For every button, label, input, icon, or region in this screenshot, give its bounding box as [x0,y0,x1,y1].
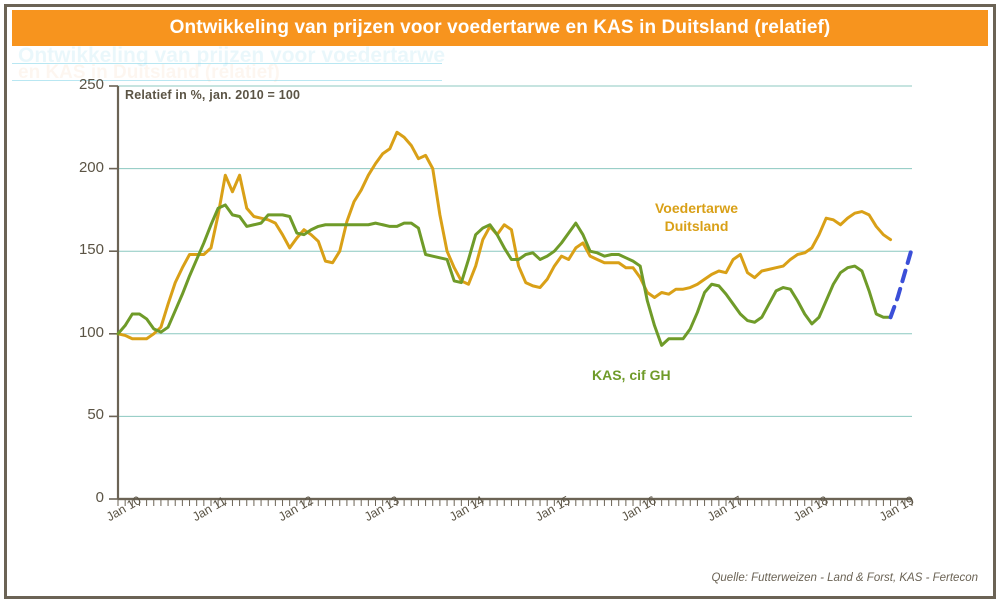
y-tick-label: 100 [58,324,104,341]
y-tick-label: 200 [58,159,104,176]
series-label-kas: KAS, cif GH [592,366,671,384]
series-line [118,132,891,339]
y-tick-label: 150 [58,241,104,258]
y-tick-label: 50 [58,406,104,423]
series-label-voedertarwe: Voedertarwe Duitsland [655,199,738,235]
source-attribution: Quelle: Futterweizen - Land & Forst, KAS… [711,572,978,584]
chart-figure: Ontwikkeling van prijzen voor voedertarw… [0,0,1000,603]
series-line [891,248,912,317]
series-paths [118,132,912,345]
plot-area [0,0,1000,603]
series-label-voedertarwe-line2: Duitsland [665,218,729,234]
series-label-voedertarwe-line1: Voedertarwe [655,200,738,216]
y-tick-label: 0 [58,489,104,506]
y-tick-label: 250 [58,76,104,93]
